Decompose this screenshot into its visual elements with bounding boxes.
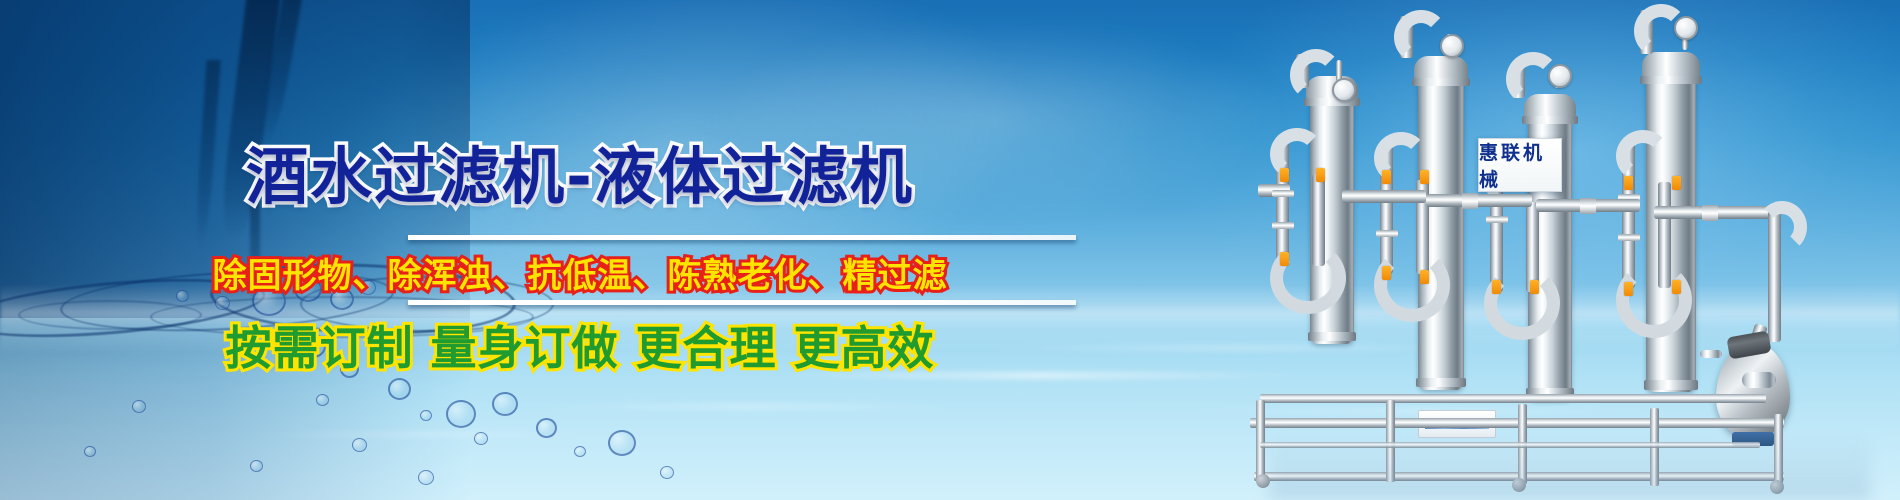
caster-wheel	[1256, 474, 1270, 488]
bubble-icon	[574, 446, 586, 457]
pipe-clamp	[1272, 222, 1294, 229]
pipe-clamp	[1462, 193, 1478, 209]
tank-collar	[1308, 332, 1356, 341]
tank-collar	[1644, 380, 1698, 390]
tank-collar	[1640, 76, 1702, 84]
brand-nameplate-label: 惠联机械	[1479, 138, 1561, 192]
filter-tank	[1646, 72, 1696, 392]
tank-collar	[1522, 116, 1578, 124]
pressure-gauge-icon	[1332, 78, 1356, 102]
u-bend	[1616, 262, 1692, 338]
bubble-icon	[474, 432, 488, 445]
valve-knob-icon	[1382, 170, 1391, 184]
bubble-icon	[84, 446, 96, 457]
frame-leg	[1256, 400, 1265, 482]
valve-knob-icon	[1280, 168, 1289, 182]
u-bend	[1484, 266, 1560, 340]
page-title: 酒水过滤机-液体过滤机	[0, 126, 1160, 216]
tank-collar	[1412, 78, 1470, 86]
bubble-icon	[420, 410, 432, 421]
machine-reflection	[1270, 430, 1870, 500]
tank-collar	[1416, 378, 1466, 387]
valve-knob-icon	[1316, 168, 1325, 182]
valve-knob-icon	[1672, 280, 1681, 294]
bubble-icon	[446, 400, 476, 428]
manifold-pipe	[1342, 190, 1426, 203]
pump-outlet-nozzle	[1742, 372, 1776, 388]
bubble-icon	[250, 460, 263, 472]
bubble-icon	[215, 296, 230, 310]
manifold-pipe	[1426, 194, 1532, 207]
bubble-icon	[388, 378, 411, 400]
pipe-clamp	[1376, 230, 1398, 237]
product-photo-liquid-filter-machine: 惠联机械	[1250, 0, 1900, 500]
valve-knob-icon	[1280, 252, 1289, 266]
pipe-clamp	[1580, 198, 1596, 214]
divider-top	[408, 235, 1076, 240]
promotional-banner: 酒水过滤机-液体过滤机 除固形物、除浑浊、抗低温、陈熟老化、精过滤 按需订制 量…	[0, 0, 1900, 500]
bubble-icon	[536, 418, 557, 438]
pressure-gauge-icon	[1440, 34, 1464, 58]
bubble-icon	[352, 438, 367, 452]
bubble-icon	[316, 394, 329, 406]
valve-knob-icon	[1492, 280, 1501, 294]
pipe-clamp	[1272, 190, 1294, 197]
pipe-clamp	[1702, 205, 1718, 221]
pipe-clamp	[1618, 234, 1640, 241]
pressure-gauge-icon	[1548, 64, 1572, 88]
valve-knob-icon	[1382, 266, 1391, 280]
service-promise-text: 按需订制 量身订做 更合理 更高效	[0, 312, 1160, 378]
water-streak	[540, 404, 960, 409]
valve-knob-icon	[1672, 176, 1681, 190]
bubble-icon	[608, 430, 636, 456]
frame-rail-top-front	[1250, 418, 1784, 428]
pipe-elbow	[1757, 201, 1807, 253]
bubble-icon	[660, 466, 674, 479]
bubble-icon	[132, 400, 146, 413]
feature-list-text: 除固形物、除浑浊、抗低温、陈熟老化、精过滤	[0, 248, 1160, 297]
divider-bottom	[408, 300, 1076, 305]
pipe-elbow	[1616, 130, 1670, 182]
pipe-clamp	[1486, 216, 1508, 223]
valve-knob-icon	[1420, 270, 1429, 284]
pipe-elbow	[1394, 10, 1448, 64]
bubble-icon	[492, 392, 518, 416]
valve-knob-icon	[1624, 176, 1633, 190]
valve-knob-icon	[1420, 170, 1429, 184]
valve-knob-icon	[1624, 282, 1633, 296]
brand-nameplate: 惠联机械	[1478, 138, 1562, 192]
valve-knob-icon	[1530, 280, 1539, 294]
frame-rail-top-back	[1260, 394, 1766, 403]
bubble-icon	[418, 470, 434, 485]
pressure-gauge-icon	[1674, 16, 1698, 40]
pump-inlet-nozzle	[1700, 350, 1722, 358]
u-bend	[1374, 248, 1450, 322]
